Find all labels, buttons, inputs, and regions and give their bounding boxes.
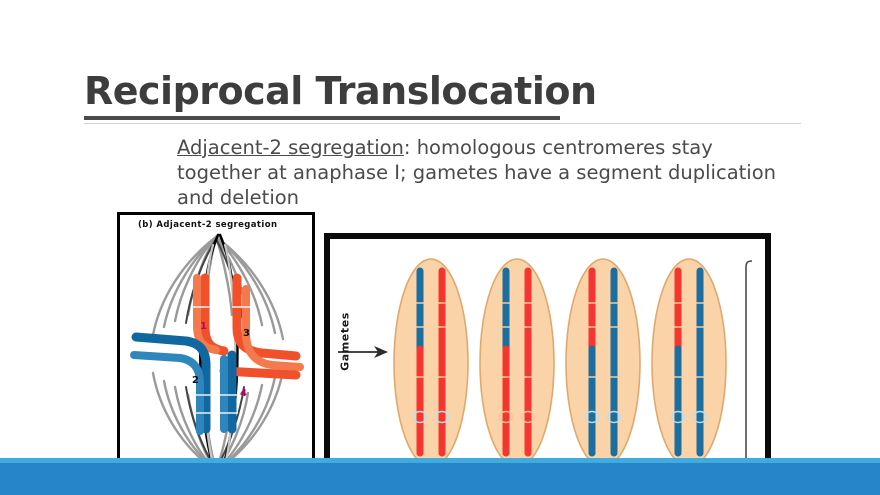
gametes-figure-inner: Gametes xyxy=(330,239,765,478)
spindle-figure-panel: (b) Adjacent-2 segregation xyxy=(117,212,315,495)
chromosome-label-3: 3 xyxy=(243,328,250,339)
page-title: Reciprocal Translocation xyxy=(84,72,804,112)
chromosome-label-1: 1 xyxy=(200,321,207,332)
chromosome-label-2: 2 xyxy=(192,375,199,386)
gamete-cell-3 xyxy=(564,257,642,469)
body-lead-underlined: Adjacent-2 segregation xyxy=(177,136,404,159)
gametes-axis-label: Gametes xyxy=(339,307,352,377)
footer-accent-stripe xyxy=(0,458,880,463)
gametes-figure-panel: Gametes xyxy=(324,233,771,484)
spindle-fibers-lower xyxy=(153,371,283,471)
title-block: Reciprocal Translocation xyxy=(84,72,804,112)
chromosome-1 xyxy=(205,278,224,351)
gamete-cell-2 xyxy=(478,257,556,469)
footer-accent-band xyxy=(0,458,880,495)
chromosome-label-4: 4 xyxy=(240,388,247,399)
title-divider-line xyxy=(84,123,801,124)
spindle-fibers-upper xyxy=(153,237,283,339)
slide-canvas: Reciprocal Translocation Adjacent-2 segr… xyxy=(0,0,880,495)
gamete-cell-1 xyxy=(392,257,470,469)
gamete-cell-4 xyxy=(650,257,728,469)
title-underline xyxy=(84,116,560,120)
gametes-bracket xyxy=(744,259,754,467)
body-paragraph: Adjacent-2 segregation: homologous centr… xyxy=(177,136,777,211)
spindle-diagram-svg xyxy=(120,215,312,492)
chromosome-group-orange xyxy=(197,278,300,375)
